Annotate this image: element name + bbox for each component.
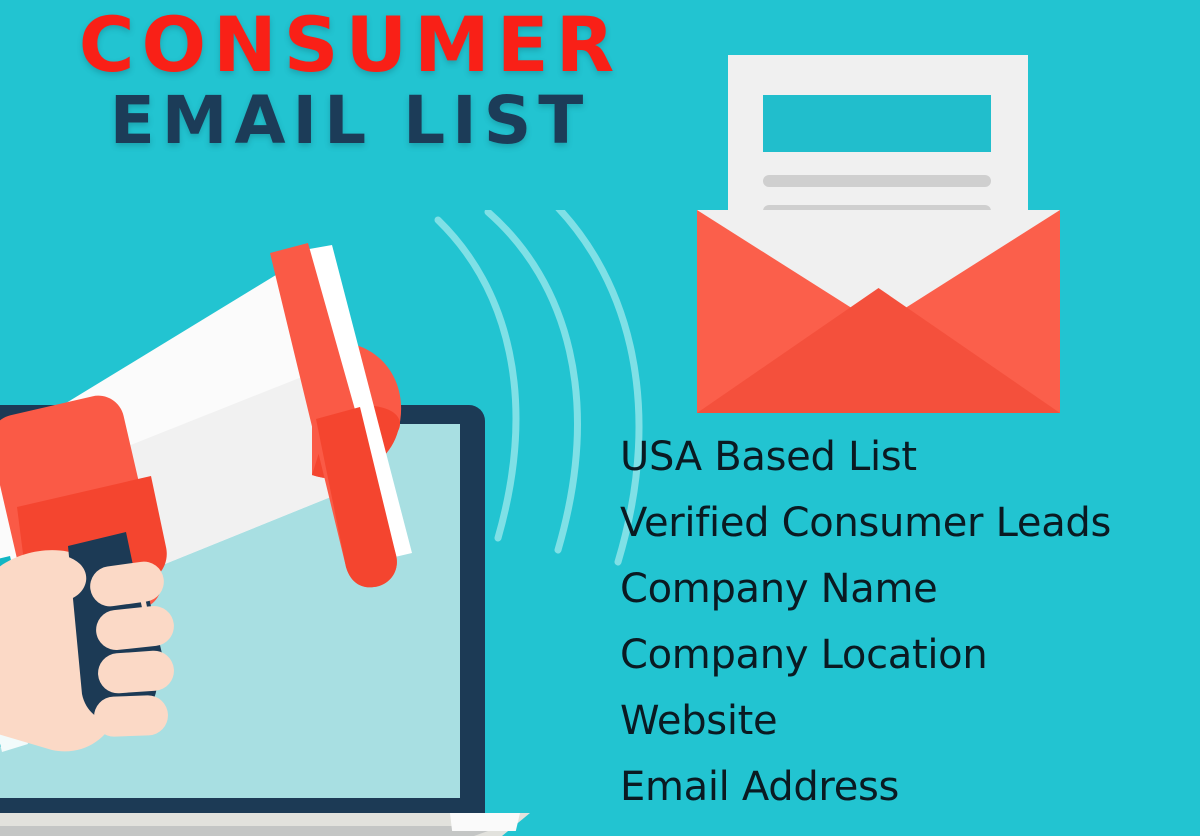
feature-item-verified-consumer-leads: Verified Consumer Leads — [620, 490, 1195, 556]
banner-canvas: CONSUMER EMAIL LIST USA Based List Verif… — [0, 0, 1200, 836]
hand-icon — [0, 520, 250, 836]
feature-list: USA Based List Verified Consumer Leads C… — [620, 424, 1195, 820]
letter-text-line — [763, 175, 991, 187]
feature-item-website: Website — [620, 688, 1195, 754]
feature-item-email-address: Email Address — [620, 754, 1195, 820]
feature-item-company-location: Company Location — [620, 622, 1195, 688]
laptop-base-highlight — [450, 813, 520, 831]
headline: CONSUMER EMAIL LIST — [0, 8, 700, 154]
feature-item-usa-based-list: USA Based List — [620, 424, 1195, 490]
feature-item-company-name: Company Name — [620, 556, 1195, 622]
headline-line-2: EMAIL LIST — [0, 88, 700, 154]
headline-line-1: CONSUMER — [0, 8, 700, 82]
envelope-icon — [690, 55, 1062, 420]
letter-header-block — [763, 95, 991, 152]
